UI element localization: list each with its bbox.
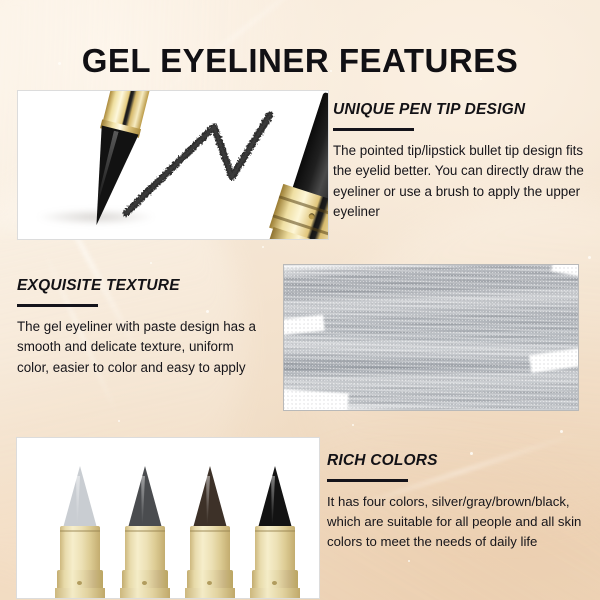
pen-tip-product-photo	[17, 90, 329, 240]
feature-body: The gel eyeliner with paste design has a…	[17, 317, 269, 378]
feature-heading: UNIQUE PEN TIP DESIGN	[333, 101, 585, 119]
product-feature-poster: GEL EYELINER FEATURES	[0, 0, 600, 600]
feature-exquisite-texture: EXQUISITE TEXTURE The gel eyeliner with …	[17, 277, 269, 378]
feature-body: The pointed tip/lipstick bullet tip desi…	[333, 141, 585, 223]
page-title: GEL EYELINER FEATURES	[0, 42, 600, 80]
feature-heading: RICH COLORS	[327, 452, 589, 470]
heading-rule	[327, 479, 408, 482]
feature-heading: EXQUISITE TEXTURE	[17, 277, 269, 295]
texture-swatch-photo	[283, 264, 579, 411]
feature-body: It has four colors, silver/gray/brown/bl…	[327, 492, 589, 552]
heading-rule	[17, 304, 98, 307]
heading-rule	[333, 128, 414, 131]
feature-rich-colors: RICH COLORS It has four colors, silver/g…	[327, 452, 589, 552]
four-colors-product-photo	[16, 437, 320, 599]
feature-unique-pen-tip-design: UNIQUE PEN TIP DESIGN The pointed tip/li…	[333, 101, 585, 223]
